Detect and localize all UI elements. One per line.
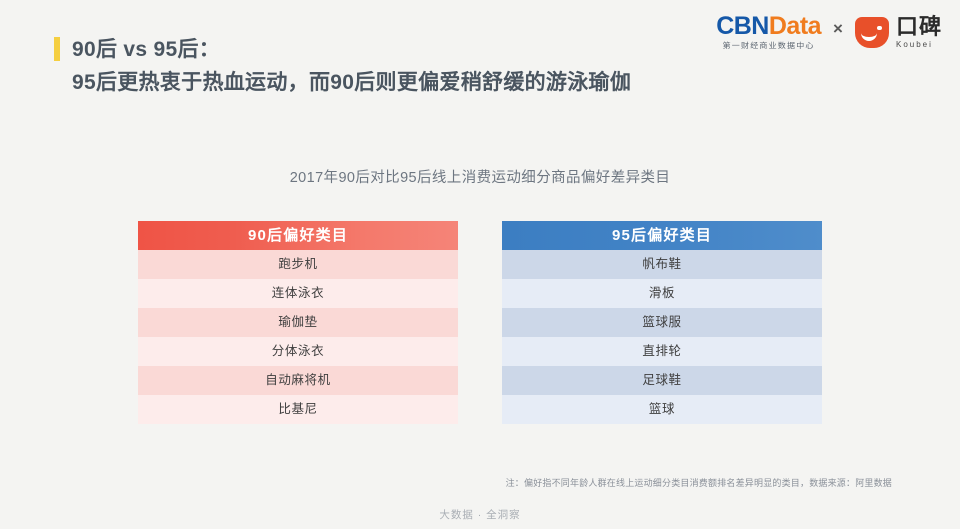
chart-subtitle: 2017年90后对比95后线上消费运动细分商品偏好差异类目 — [0, 166, 960, 187]
headline-accent-bar — [54, 37, 60, 61]
table-row: 篮球 — [502, 395, 822, 424]
koubei-eye-dot — [877, 26, 882, 31]
table-row: 瑜伽垫 — [138, 308, 458, 337]
table-row: 帆布鞋 — [502, 250, 822, 279]
koubei-smiley-icon — [855, 17, 889, 48]
koubei-wordmark: 口碑 Koubei — [896, 16, 942, 49]
headline-line-1: 90后 vs 95后： — [72, 34, 631, 67]
table-row: 篮球服 — [502, 308, 822, 337]
cross-symbol: × — [833, 19, 843, 45]
page-title: 90后 vs 95后： 95后更热衷于热血运动，而90后则更偏爱稍舒缓的游泳瑜伽 — [72, 34, 631, 99]
table-row: 跑步机 — [138, 250, 458, 279]
koubei-smile-shape — [861, 28, 877, 41]
cbndata-wordmark-cbn: CBN — [716, 12, 769, 40]
table-post-95s: 95后偏好类目 帆布鞋 滑板 篮球服 直排轮 足球鞋 篮球 — [502, 221, 822, 424]
cbndata-wordmark-data: Data — [769, 12, 821, 40]
koubei-name-en: Koubei — [896, 41, 942, 49]
watermark: 大数据 · 全洞察 — [0, 507, 960, 522]
table-row: 滑板 — [502, 279, 822, 308]
koubei-logo: 口碑 Koubei — [855, 16, 942, 49]
koubei-name-cn: 口碑 — [896, 16, 942, 38]
cbndata-subtitle: 第一财经商业数据中心 — [723, 42, 815, 49]
table-row: 分体泳衣 — [138, 337, 458, 366]
footnote: 注：偏好指不同年龄人群在线上运动细分类目消费额排名差异明显的类目，数据来源：阿里… — [506, 476, 892, 489]
table-row: 比基尼 — [138, 395, 458, 424]
cbndata-logo: CBNData 第一财经商业数据中心 — [716, 14, 821, 50]
cbndata-wordmark: CBNData — [716, 14, 821, 39]
headline-block: 90后 vs 95后： 95后更热衷于热血运动，而90后则更偏爱稍舒缓的游泳瑜伽 — [54, 34, 631, 99]
table-row: 足球鞋 — [502, 366, 822, 395]
table-row: 直排轮 — [502, 337, 822, 366]
headline-line-2: 95后更热衷于热血运动，而90后则更偏爱稍舒缓的游泳瑜伽 — [72, 67, 631, 100]
table-header-post-95s: 95后偏好类目 — [502, 221, 822, 250]
table-row: 自动麻将机 — [138, 366, 458, 395]
brand-logo-bar: CBNData 第一财经商业数据中心 × 口碑 Koubei — [716, 12, 942, 52]
table-header-post-90s: 90后偏好类目 — [138, 221, 458, 250]
table-post-90s: 90后偏好类目 跑步机 连体泳衣 瑜伽垫 分体泳衣 自动麻将机 比基尼 — [138, 221, 458, 424]
comparison-tables: 90后偏好类目 跑步机 连体泳衣 瑜伽垫 分体泳衣 自动麻将机 比基尼 95后偏… — [138, 221, 822, 424]
table-row: 连体泳衣 — [138, 279, 458, 308]
